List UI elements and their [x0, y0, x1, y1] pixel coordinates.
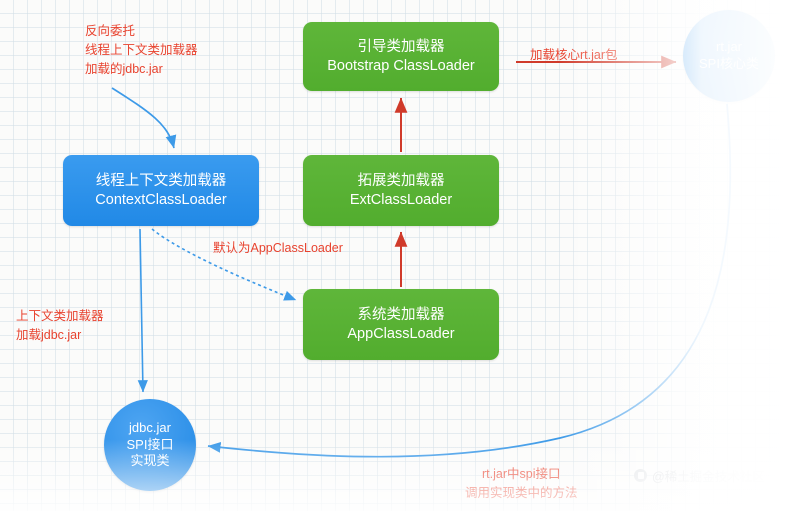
node-context-line2: ContextClassLoader [95, 191, 226, 210]
label-reverse-delegation: 反向委托 线程上下文类加载器 加载的jdbc.jar [85, 22, 198, 78]
node-ext-line2: ExtClassLoader [350, 191, 452, 210]
label-load-core-rtjar: 加载核心rt.jar包 [530, 46, 618, 65]
diagram-canvas: 引导类加载器 Bootstrap ClassLoader 拓展类加载器 ExtC… [0, 0, 797, 511]
node-rt-line2: SPI核心类 [699, 56, 759, 73]
label-rtjar-spi-line2: 调用实现类中的方法 [465, 484, 578, 503]
label-context-load-jdbcjar: 上下文类加载器 加载jdbc.jar [16, 307, 104, 345]
label-rtjar-spi-invoke: rt.jar中spi接口 调用实现类中的方法 [465, 465, 578, 503]
node-context-classloader[interactable]: 线程上下文类加载器 ContextClassLoader [63, 155, 259, 226]
node-app-line1: 系统类加载器 [358, 306, 445, 325]
connector-context-to-jdbcjar [140, 229, 143, 392]
label-reverse-delegation-line1: 反向委托 [85, 22, 198, 41]
node-jdbc-line3: 实现类 [130, 453, 169, 470]
watermark: @稀土掘金技术社区 [634, 466, 765, 485]
label-reverse-delegation-line2: 线程上下文类加载器 [85, 41, 198, 60]
juejin-logo-icon [634, 469, 647, 482]
label-context-load-line2: 加载jdbc.jar [16, 326, 104, 345]
node-bootstrap-line2: Bootstrap ClassLoader [327, 57, 475, 76]
node-rt-line1: rt.jar [716, 39, 742, 56]
label-context-load-line1: 上下文类加载器 [16, 307, 104, 326]
node-context-line1: 线程上下文类加载器 [96, 172, 227, 191]
node-app-classloader[interactable]: 系统类加载器 AppClassLoader [303, 289, 499, 360]
label-default-appclassloader: 默认为AppClassLoader [213, 239, 343, 258]
node-rt-jar[interactable]: rt.jar SPI核心类 [683, 10, 775, 102]
node-jdbc-jar[interactable]: jdbc.jar SPI接口 实现类 [104, 399, 196, 491]
label-reverse-delegation-line3: 加载的jdbc.jar [85, 60, 198, 79]
node-bootstrap-line1: 引导类加载器 [358, 38, 445, 57]
node-app-line2: AppClassLoader [347, 325, 454, 344]
node-jdbc-line2: SPI接口 [127, 437, 174, 454]
label-rtjar-spi-line1: rt.jar中spi接口 [465, 465, 578, 484]
node-bootstrap-classloader[interactable]: 引导类加载器 Bootstrap ClassLoader [303, 22, 499, 91]
node-jdbc-line1: jdbc.jar [129, 420, 171, 437]
node-ext-line1: 拓展类加载器 [358, 172, 445, 191]
watermark-text: @稀土掘金技术社区 [652, 466, 765, 485]
connector-reverse-delegation [112, 88, 174, 148]
node-ext-classloader[interactable]: 拓展类加载器 ExtClassLoader [303, 155, 499, 226]
